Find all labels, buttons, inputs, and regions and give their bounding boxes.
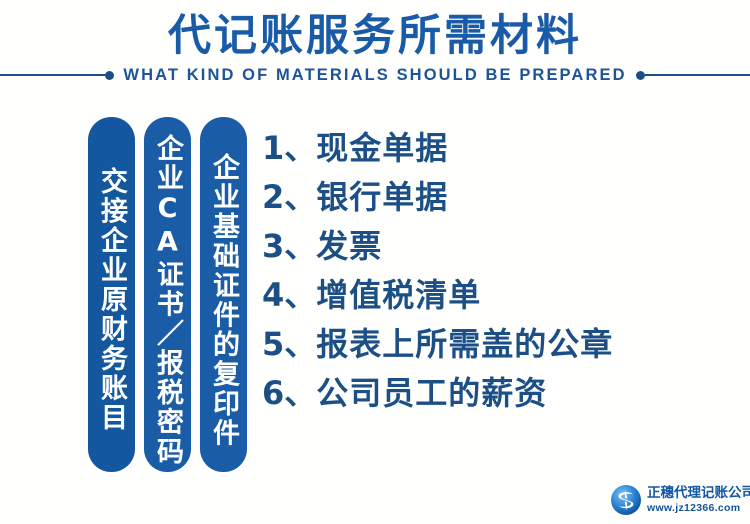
vertical-bars-group: 交接企业原财务账目 企业CA证书／报税密码 企业基础证件的复印件 <box>88 117 248 472</box>
list-item: 6、公司员工的薪资 <box>262 369 732 418</box>
list-item: 3、发票 <box>262 222 732 271</box>
vertical-bar-2: 企业CA证书／报税密码 <box>144 117 191 472</box>
vertical-bar-3-label: 企业基础证件的复印件 <box>200 117 247 472</box>
rule-left <box>0 74 105 76</box>
company-logo: 正穗代理记账公司 www.jz12366.com <box>610 478 748 522</box>
list-item-text: 发票 <box>316 227 382 265</box>
list-item: 5、报表上所需盖的公章 <box>262 320 732 369</box>
page-title: 代记账服务所需材料 <box>0 8 750 64</box>
header: 代记账服务所需材料 WHAT KIND OF MATERIALS SHOULD … <box>0 0 750 95</box>
logo-website-url: www.jz12366.com <box>647 501 750 515</box>
logo-company-name: 正穗代理记账公司 <box>647 485 750 501</box>
list-item-text: 报表上所需盖的公章 <box>316 325 613 363</box>
poster-canvas: 代记账服务所需材料 WHAT KIND OF MATERIALS SHOULD … <box>0 0 750 524</box>
list-item-number: 2、 <box>262 178 316 216</box>
list-item: 1、现金单据 <box>262 124 732 173</box>
rule-right <box>645 74 750 76</box>
vertical-bar-2-label: 企业CA证书／报税密码 <box>144 117 191 472</box>
logo-swoosh-icon <box>610 484 642 516</box>
list-item-text: 现金单据 <box>316 129 448 167</box>
bullet-dot-icon-right <box>636 71 645 80</box>
vertical-bar-1-label: 交接企业原财务账目 <box>88 117 135 472</box>
list-item-text: 银行单据 <box>316 178 448 216</box>
list-item-number: 1、 <box>262 129 316 167</box>
bullet-dot-icon-left <box>105 71 114 80</box>
list-item-number: 4、 <box>262 276 316 314</box>
list-item-number: 6、 <box>262 374 316 412</box>
list-item: 4、增值税清单 <box>262 271 732 320</box>
logo-text-group: 正穗代理记账公司 www.jz12366.com <box>647 485 750 515</box>
list-item-text: 增值税清单 <box>316 276 481 314</box>
vertical-bar-1: 交接企业原财务账目 <box>88 117 135 472</box>
list-item-text: 公司员工的薪资 <box>316 374 547 412</box>
page-subtitle: WHAT KIND OF MATERIALS SHOULD BE PREPARE… <box>114 66 635 85</box>
vertical-bar-3: 企业基础证件的复印件 <box>200 117 247 472</box>
list-item-number: 3、 <box>262 227 316 265</box>
materials-list: 1、现金单据 2、银行单据 3、发票 4、增值税清单 5、报表上所需盖的公章 6… <box>262 124 732 418</box>
subtitle-row: WHAT KIND OF MATERIALS SHOULD BE PREPARE… <box>0 62 750 88</box>
list-item: 2、银行单据 <box>262 173 732 222</box>
list-item-number: 5、 <box>262 325 316 363</box>
